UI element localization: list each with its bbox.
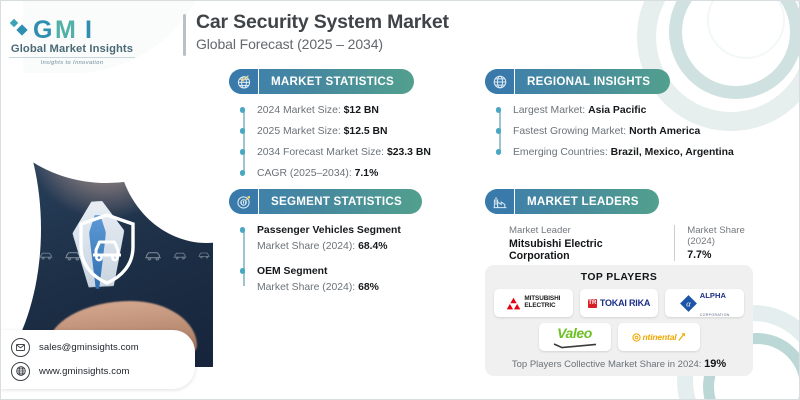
gmi-diamond-logo: G M I — [9, 15, 137, 42]
factory-icon — [485, 189, 515, 214]
market-statistics-list: 2024 Market Size: $12 BN 2025 Market Siz… — [243, 104, 465, 180]
regional-insights-list: Largest Market: Asia Pacific Fastest Gro… — [499, 104, 785, 159]
segment-share-label: Market Share (2024): — [257, 241, 358, 252]
item-value: Asia Pacific — [588, 105, 646, 116]
list-spine — [243, 110, 245, 172]
logo-alpha-corporation[interactable]: α ALPHA CORPORATION — [665, 289, 744, 317]
item-label: 2025 Market Size: — [257, 126, 344, 137]
market-leader-row: Market Leader Mitsubishi Electric Corpor… — [509, 225, 785, 262]
regional-insights-title: REGIONAL INSIGHTS — [515, 75, 650, 88]
list-spine — [243, 230, 245, 286]
mitsubishi-line2: ELECTRIC — [524, 302, 555, 309]
brand-subtitle: Global Market Insights — [9, 43, 135, 55]
envelope-icon — [11, 338, 30, 357]
contact-website: www.gminsights.com — [39, 366, 130, 377]
alpha-logo-text-block: ALPHA CORPORATION — [700, 285, 730, 321]
segment-share: Market Share (2024): 68% — [257, 281, 465, 294]
item-value: $12 BN — [344, 105, 379, 116]
list-item: OEM Segment Market Share (2024): 68% — [257, 265, 465, 294]
continental-logo-mark: ntinental — [632, 332, 684, 342]
infographic-canvas: G M I Global Market Insights Insights to… — [0, 0, 800, 400]
tokai-rika-logo-mark: TR TOKAI RIKA — [588, 298, 650, 308]
top-players-logo-row-2: Valeo ntinental — [494, 323, 744, 351]
list-item: Fastest Growing Market: North America — [513, 125, 785, 138]
list-item: Passenger Vehicles Segment Market Share … — [257, 224, 465, 253]
globe-icon — [485, 69, 515, 94]
item-label: CAGR (2025–2034): — [257, 168, 355, 179]
contact-panel: sales@gminsights.com www.gminsights.com — [1, 330, 195, 389]
bullet-dot — [240, 268, 246, 274]
list-item: 2024 Market Size: $12 BN — [257, 104, 465, 117]
segment-statistics-header: SEGMENT STATISTICS — [229, 189, 422, 214]
market-statistics-header: MARKET STATISTICS — [229, 69, 414, 94]
list-item: 2034 Forecast Market Size: $23.3 BN — [257, 146, 465, 159]
globe-icon — [11, 362, 30, 381]
top-players-title: TOP PLAYERS — [494, 272, 744, 283]
top-players-footer-value: 19% — [704, 358, 726, 370]
list-item: 2025 Market Size: $12.5 BN — [257, 125, 465, 138]
item-value: $23.3 BN — [387, 147, 431, 158]
contact-email: sales@gminsights.com — [39, 342, 139, 353]
page-subtitle: Global Forecast (2025 – 2034) — [196, 36, 449, 52]
list-item: Emerging Countries: Brazil, Mexico, Arge… — [513, 146, 785, 159]
mitsubishi-logo-mark: MITSUBISHI ELECTRIC — [506, 296, 560, 309]
top-players-panel: TOP PLAYERS MITSUBISHI ELECTRIC — [485, 265, 753, 376]
bullet-dot — [240, 107, 246, 113]
car-shield-icon — [75, 211, 139, 287]
bullet-dot — [240, 170, 246, 176]
bullet-dot — [240, 128, 246, 134]
segment-name: OEM Segment — [257, 265, 465, 278]
market-leader-value: Mitsubishi Electric Corporation — [509, 238, 662, 262]
bullet-dot — [240, 227, 246, 233]
bullet-dot — [496, 107, 502, 113]
alpha-logo-text: ALPHA — [700, 291, 726, 300]
segment-share-value: 68% — [358, 282, 379, 293]
segment-name: Passenger Vehicles Segment — [257, 224, 465, 237]
item-value: North America — [629, 126, 700, 137]
market-statistics-title: MARKET STATISTICS — [259, 75, 394, 88]
market-leader-label: Market Leader — [509, 225, 662, 236]
list-item: Largest Market: Asia Pacific — [513, 104, 785, 117]
item-label: 2034 Forecast Market Size: — [257, 147, 387, 158]
segment-share-label: Market Share (2024): — [257, 282, 358, 293]
item-label: Fastest Growing Market: — [513, 126, 629, 137]
svg-text:M: M — [55, 16, 76, 42]
item-value: 7.1% — [355, 168, 379, 179]
logo-mitsubishi-electric[interactable]: MITSUBISHI ELECTRIC — [494, 289, 573, 317]
list-item: CAGR (2025–2034): 7.1% — [257, 167, 465, 180]
mitsubishi-logo-text: MITSUBISHI ELECTRIC — [524, 296, 560, 309]
top-players-footer: Top Players Collective Market Share in 2… — [494, 358, 744, 370]
segment-share: Market Share (2024): 68.4% — [257, 240, 465, 253]
segment-share-value: 68.4% — [358, 241, 387, 252]
item-value: Brazil, Mexico, Argentina — [611, 147, 734, 158]
contact-website-row[interactable]: www.gminsights.com — [11, 361, 185, 381]
svg-text:G: G — [33, 16, 52, 42]
hero-image — [1, 89, 213, 367]
contact-email-row[interactable]: sales@gminsights.com — [11, 337, 185, 357]
market-share-label: Market Share (2024) — [687, 225, 773, 247]
valeo-logo-text: Valeo — [557, 325, 592, 341]
title-divider — [183, 14, 186, 56]
bullet-dot — [240, 149, 246, 155]
page-title-block: Car Security System Market Global Foreca… — [183, 11, 449, 52]
market-share-value: 7.7% — [687, 249, 773, 261]
continental-logo-text: ntinental — [642, 332, 676, 342]
item-label: Emerging Countries: — [513, 147, 611, 158]
bullet-dot — [496, 149, 502, 155]
item-value: $12.5 BN — [344, 126, 388, 137]
top-players-logo-row-1: MITSUBISHI ELECTRIC TR TOKAI RIKA α — [494, 289, 744, 317]
alpha-logo-subtext: CORPORATION — [700, 313, 730, 317]
item-label: 2024 Market Size: — [257, 105, 344, 116]
item-label: Largest Market: — [513, 105, 588, 116]
regional-insights-header: REGIONAL INSIGHTS — [485, 69, 670, 94]
valeo-logo-mark: Valeo — [552, 326, 598, 349]
bullet-dot — [496, 128, 502, 134]
top-players-footer-label: Top Players Collective Market Share in 2… — [512, 359, 704, 370]
tokai-rika-badge: TR — [588, 299, 597, 308]
target-chart-icon — [229, 189, 259, 214]
section-market-leaders: MARKET LEADERS Market Leader Mitsubishi … — [485, 189, 785, 262]
logo-tokai-rika[interactable]: TR TOKAI RIKA — [580, 289, 659, 317]
logo-valeo[interactable]: Valeo — [539, 323, 611, 351]
segment-statistics-title: SEGMENT STATISTICS — [259, 195, 402, 208]
brand-tagline: Insights to Innovation — [9, 57, 135, 66]
svg-text:I: I — [85, 16, 92, 42]
decorative-ring-top-right-thin — [707, 0, 785, 59]
section-market-statistics: MARKET STATISTICS 2024 Market Size: $12 … — [229, 69, 465, 180]
logo-continental[interactable]: ntinental — [618, 323, 700, 351]
globe-chart-icon — [229, 69, 259, 94]
tokai-rika-logo-text: TOKAI RIKA — [600, 298, 650, 308]
page-title: Car Security System Market — [196, 11, 449, 34]
section-regional-insights: REGIONAL INSIGHTS Largest Market: Asia P… — [485, 69, 785, 159]
alpha-logo-mark: α ALPHA CORPORATION — [680, 285, 730, 321]
market-leader-name-col: Market Leader Mitsubishi Electric Corpor… — [509, 225, 674, 262]
market-leaders-title: MARKET LEADERS — [515, 195, 639, 208]
section-segment-statistics: SEGMENT STATISTICS Passenger Vehicles Se… — [229, 189, 465, 294]
svg-text:α: α — [686, 298, 691, 308]
segment-statistics-list: Passenger Vehicles Segment Market Share … — [243, 224, 465, 294]
market-leaders-header: MARKET LEADERS — [485, 189, 659, 214]
market-leader-share-col: Market Share (2024) 7.7% — [674, 225, 785, 261]
brand-logo: G M I Global Market Insights Insights to… — [9, 15, 137, 66]
